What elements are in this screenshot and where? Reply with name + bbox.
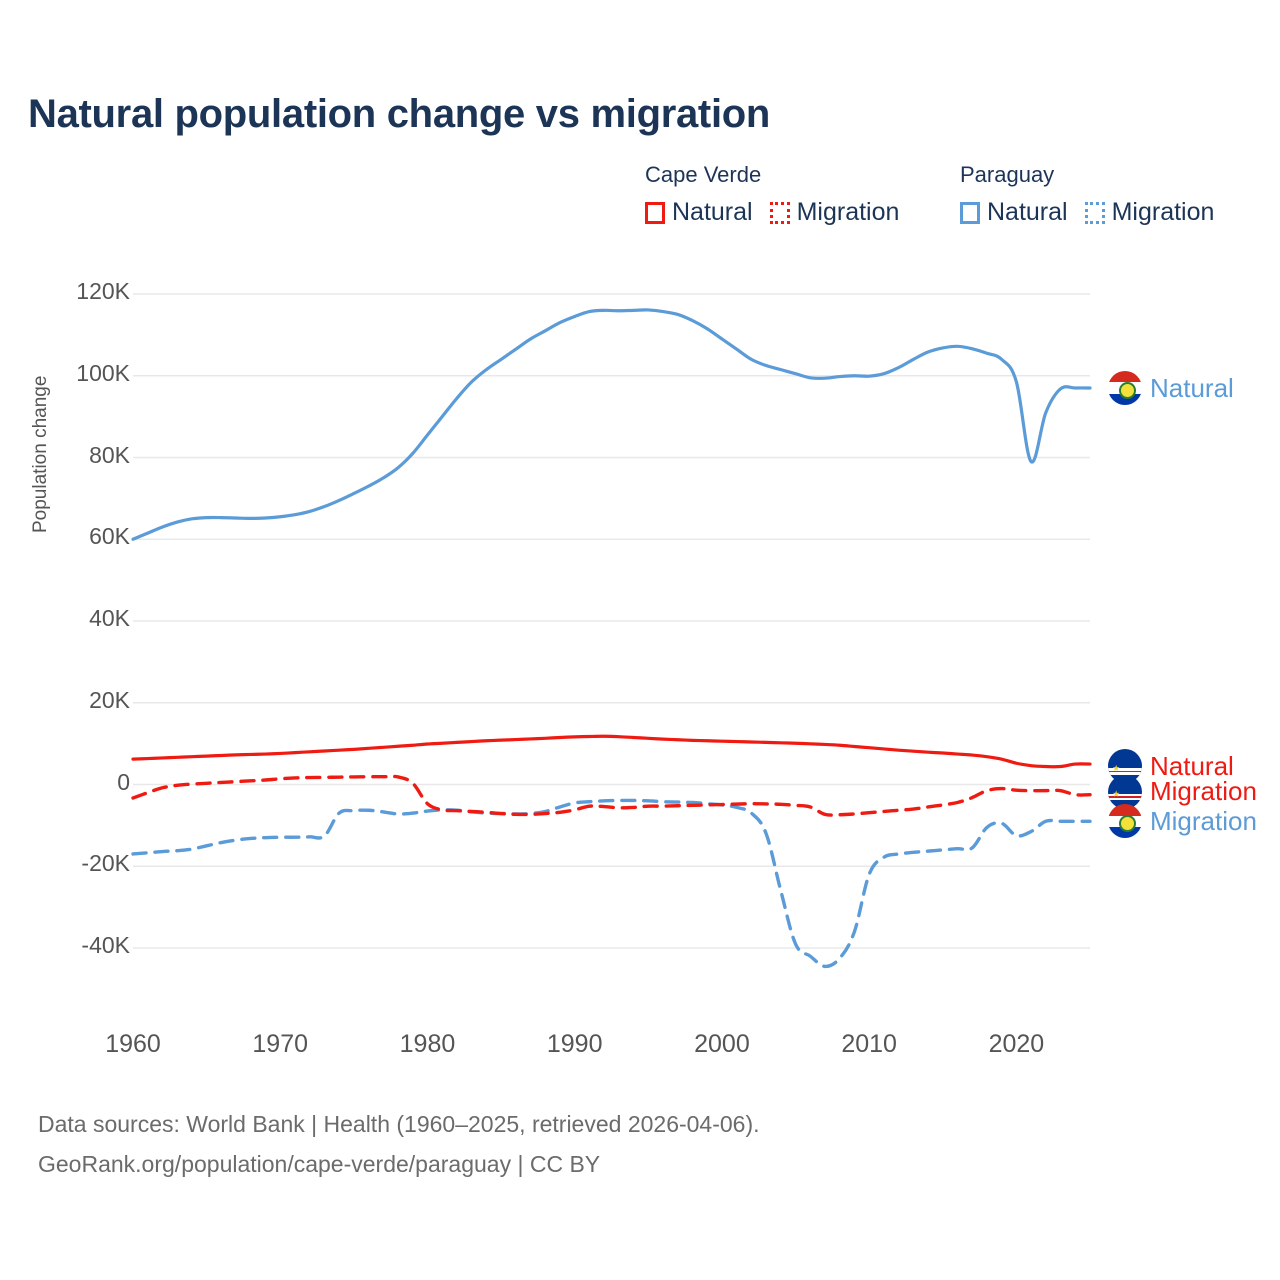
plot-area: 120K100K80K60K40K20K0-20K-40K 1960197019… bbox=[0, 0, 1280, 1280]
y-axis-tick-label: 20K bbox=[89, 687, 130, 714]
series-line-cape-verde-natural bbox=[133, 736, 1090, 766]
y-axis-tick-label: 100K bbox=[76, 360, 130, 387]
paraguay-flag-icon bbox=[1108, 804, 1142, 838]
series-line-paraguay-migration bbox=[133, 800, 1090, 966]
series-line-paraguay-natural bbox=[133, 310, 1090, 539]
end-label-paraguay-migration: Migration bbox=[1108, 804, 1257, 838]
y-axis-tick-label: 80K bbox=[89, 442, 130, 469]
y-axis-label: Population change bbox=[30, 303, 52, 533]
x-axis-tick-label: 2020 bbox=[989, 1030, 1045, 1059]
end-label-text: Migration bbox=[1150, 776, 1257, 807]
y-axis-tick-label: 40K bbox=[89, 605, 130, 632]
gridlines bbox=[133, 294, 1090, 948]
x-axis-tick-label: 1990 bbox=[547, 1030, 603, 1059]
x-axis-tick-label: 2010 bbox=[841, 1030, 897, 1059]
x-axis-tick-label: 2000 bbox=[694, 1030, 750, 1059]
end-label-text: Natural bbox=[1150, 373, 1234, 404]
end-label-paraguay-natural: Natural bbox=[1108, 371, 1234, 405]
footer-attribution: GeoRank.org/population/cape-verde/paragu… bbox=[38, 1144, 760, 1184]
chart-container: Natural population change vs migration C… bbox=[0, 0, 1280, 1280]
plot-svg bbox=[0, 0, 1280, 1280]
y-axis-tick-label: -40K bbox=[81, 932, 130, 959]
footer-data-sources: Data sources: World Bank | Health (1960–… bbox=[38, 1104, 760, 1144]
x-axis-tick-label: 1980 bbox=[400, 1030, 456, 1059]
footer: Data sources: World Bank | Health (1960–… bbox=[38, 1104, 760, 1184]
series-lines bbox=[133, 310, 1090, 967]
end-label-text: Migration bbox=[1150, 806, 1257, 837]
series-line-cape-verde-migration bbox=[133, 776, 1090, 815]
y-axis-tick-label: 60K bbox=[89, 523, 130, 550]
x-axis-tick-label: 1970 bbox=[252, 1030, 308, 1059]
y-axis-tick-label: -20K bbox=[81, 850, 130, 877]
y-axis-tick-label: 0 bbox=[117, 769, 130, 796]
x-axis-tick-label: 1960 bbox=[105, 1030, 161, 1059]
paraguay-flag-icon bbox=[1108, 371, 1142, 405]
y-axis-tick-label: 120K bbox=[76, 278, 130, 305]
